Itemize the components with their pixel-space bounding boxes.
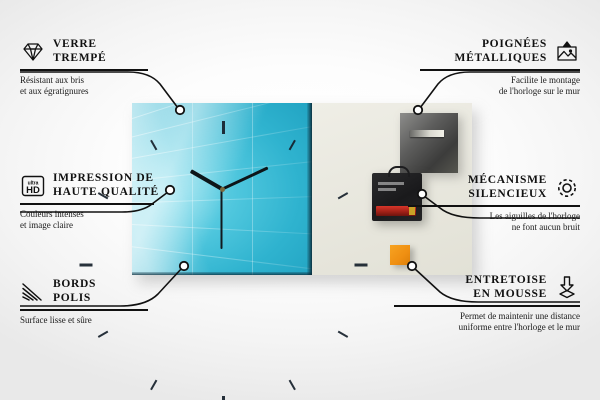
feature-rule — [394, 305, 580, 307]
feature-desc: Les aiguilles de l'horloge ne font aucun… — [408, 211, 580, 233]
feature-desc: Surface lisse et sûre — [20, 315, 160, 326]
feature-desc: Résistant aux bris et aux égratignures — [20, 75, 160, 97]
feature-title: POIGNÉES MÉTALLIQUES — [455, 38, 547, 65]
feature-poignees-metalliques: POIGNÉES MÉTALLIQUES Facilite le montage… — [420, 38, 580, 97]
infographic-canvas: VERRE TREMPÉ Résistant aux bris et aux é… — [0, 0, 600, 400]
feature-desc: Couleurs intenses et image claire — [20, 209, 170, 231]
feature-entretoise-en-mousse: ENTRETOISE EN MOUSSE Permet de maintenir… — [394, 274, 580, 333]
feature-title: ENTRETOISE EN MOUSSE — [465, 274, 547, 301]
clock-center-cap — [220, 187, 225, 192]
feature-rule — [420, 69, 580, 71]
feature-title: VERRE TREMPÉ — [53, 38, 106, 65]
feature-rule — [20, 309, 148, 311]
gear-icon — [554, 175, 580, 201]
polished-edges-icon — [20, 279, 46, 305]
feature-desc: Permet de maintenir une distance uniform… — [394, 311, 580, 333]
diamond-icon — [20, 39, 46, 65]
picture-frame-icon — [554, 39, 580, 65]
foam-spacer-icon — [554, 275, 580, 301]
svg-text:HD: HD — [26, 185, 40, 196]
feature-bords-polis: BORDS POLIS Surface lisse et sûre — [20, 278, 160, 326]
clock-hour-hand — [190, 169, 223, 190]
clock-minute-hand — [221, 167, 268, 191]
feature-rule — [408, 205, 580, 207]
ultra-hd-icon: ultra HD — [20, 173, 46, 199]
feature-mecanisme-silencieux: MÉCANISME SILENCIEUX Les aiguilles de l'… — [408, 174, 580, 233]
feature-title: BORDS POLIS — [53, 278, 96, 305]
feature-rule — [20, 69, 148, 71]
feature-title: IMPRESSION DE HAUTE QUALITÉ — [53, 172, 159, 199]
feature-impression-haute-qualite: ultra HD IMPRESSION DE HAUTE QUALITÉ Cou… — [20, 172, 170, 231]
feature-verre-trempe: VERRE TREMPÉ Résistant aux bris et aux é… — [20, 38, 160, 97]
feature-desc: Facilite le montage de l'horloge sur le … — [420, 75, 580, 97]
feature-rule — [20, 203, 154, 205]
movement-hanger — [388, 166, 410, 177]
metallic-hanger-plate — [400, 113, 458, 173]
feature-title: MÉCANISME SILENCIEUX — [468, 174, 547, 201]
foam-spacer — [390, 245, 410, 265]
hanger-slot — [410, 130, 444, 137]
clock-second-hand — [221, 189, 223, 249]
